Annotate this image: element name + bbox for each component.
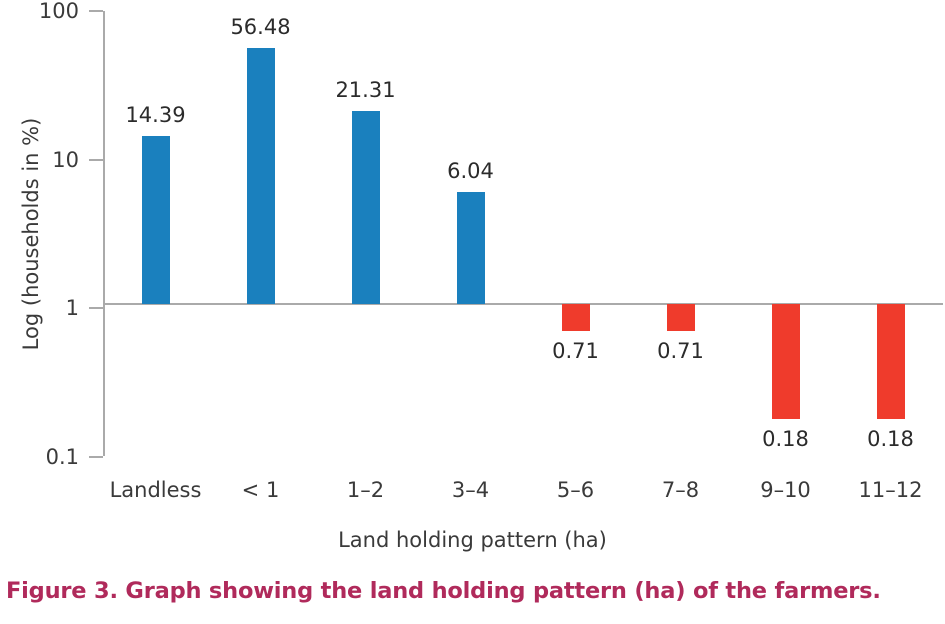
x-axis-tick-label: 11–12: [831, 478, 945, 502]
x-axis-tick-label: 1–2: [306, 478, 426, 502]
x-axis-tick-label: 7–8: [621, 478, 741, 502]
x-axis-tick-label: 9–10: [726, 478, 846, 502]
bar[interactable]: [562, 304, 590, 331]
bar-value-label: 21.31: [306, 78, 426, 102]
y-axis-tick: 10: [89, 159, 103, 161]
bar-value-label: 0.18: [831, 427, 945, 451]
y-axis-tick-mark: [89, 10, 103, 12]
bar-value-label: 14.39: [96, 103, 216, 127]
y-axis-tick-label: 0.1: [46, 445, 79, 469]
y-axis-tick-label: 100: [39, 0, 79, 23]
bar-value-label: 0.18: [726, 427, 846, 451]
figure: Log (households in %) 1001010.1 14.3956.…: [0, 0, 945, 624]
bar-value-label: 56.48: [201, 15, 321, 39]
baseline-gridline: [103, 303, 943, 305]
x-axis-tick-label: Landless: [96, 478, 216, 502]
x-axis-tick-label: 3–4: [411, 478, 531, 502]
bar-value-label: 0.71: [621, 339, 741, 363]
y-axis-tick-mark: [89, 159, 103, 161]
y-axis-title: Log (households in %): [19, 84, 43, 384]
y-axis-spine: [103, 11, 105, 456]
y-axis-tick-label: 10: [52, 148, 79, 172]
bar[interactable]: [877, 304, 905, 419]
bar[interactable]: [247, 48, 275, 304]
bar[interactable]: [667, 304, 695, 331]
y-axis-tick-mark: [89, 456, 103, 458]
y-axis-tick: 0.1: [89, 456, 103, 458]
x-axis-tick-label: 5–6: [516, 478, 636, 502]
chart-plot-area: Log (households in %) 1001010.1 14.3956.…: [0, 0, 945, 565]
y-axis-tick: 1: [89, 307, 103, 309]
y-axis-tick-mark: [89, 307, 103, 309]
bar-value-label: 0.71: [516, 339, 636, 363]
figure-caption: Figure 3. Graph showing the land holding…: [0, 578, 945, 604]
bar[interactable]: [352, 111, 380, 304]
x-axis-tick-label: < 1: [201, 478, 321, 502]
bar[interactable]: [142, 136, 170, 304]
bar-value-label: 6.04: [411, 159, 531, 183]
x-axis-title: Land holding pattern (ha): [0, 528, 945, 552]
bar[interactable]: [457, 192, 485, 304]
y-axis-tick-label: 1: [66, 296, 79, 320]
y-axis-tick: 100: [89, 10, 103, 12]
bar[interactable]: [772, 304, 800, 419]
